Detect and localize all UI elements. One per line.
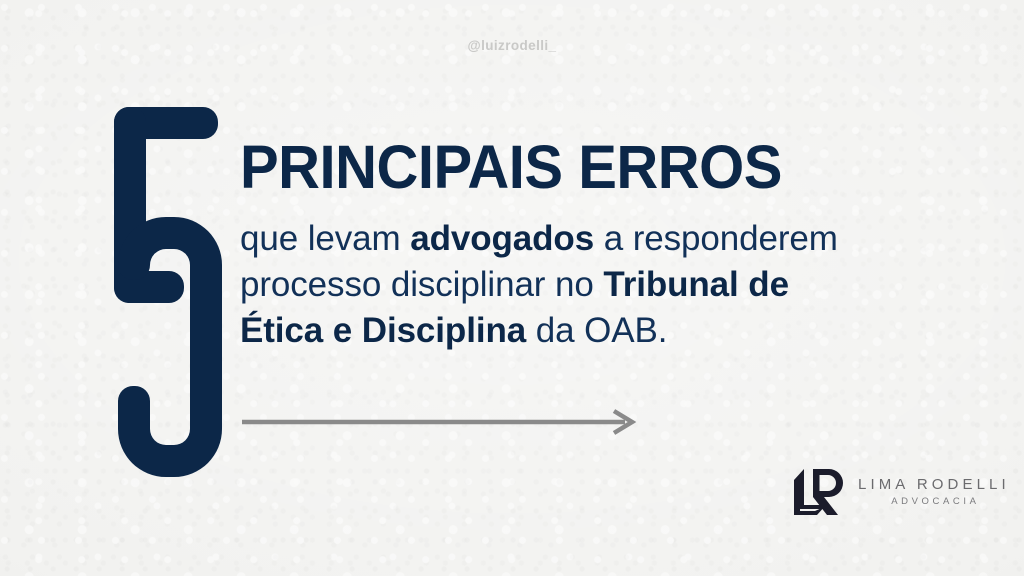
subtitle-segment-bold: Ética e Disciplina xyxy=(240,311,526,350)
subtitle-segment: processo disciplinar no xyxy=(240,265,603,304)
big-numeral-5 xyxy=(104,97,234,497)
subtitle-segment: a responderem xyxy=(594,219,838,258)
brand-logo: LIMA RODELLI ADVOCACIA xyxy=(793,468,1010,516)
page-title: PRINCIPAIS ERROS xyxy=(240,138,905,198)
logo-name: LIMA RODELLI xyxy=(858,476,1010,493)
lr-monogram-icon xyxy=(793,468,845,516)
subtitle-segment-bold: Tribunal de xyxy=(603,265,789,304)
subtitle-line-3: Ética e Disciplina da OAB. xyxy=(240,308,940,354)
subtitle-segment: que levam xyxy=(240,219,410,258)
social-handle: @luizrodelli_ xyxy=(0,38,1024,53)
subtitle-line-1: que levam advogados a responderem xyxy=(240,216,940,262)
slide-canvas: @luizrodelli_ PRINCIPAIS ERROS que levam… xyxy=(0,0,1024,576)
text-block: PRINCIPAIS ERROS que levam advogados a r… xyxy=(240,138,940,354)
subtitle-line-2: processo disciplinar no Tribunal de xyxy=(240,262,940,308)
subtitle-segment-bold: advogados xyxy=(410,219,594,258)
subtitle-segment: da OAB. xyxy=(526,311,667,350)
arrow-right-icon xyxy=(240,409,640,435)
subtitle: que levam advogados a responderem proces… xyxy=(240,216,940,355)
logo-tagline: ADVOCACIA xyxy=(891,496,979,507)
logo-text-lockup: LIMA RODELLI ADVOCACIA xyxy=(858,476,1010,508)
